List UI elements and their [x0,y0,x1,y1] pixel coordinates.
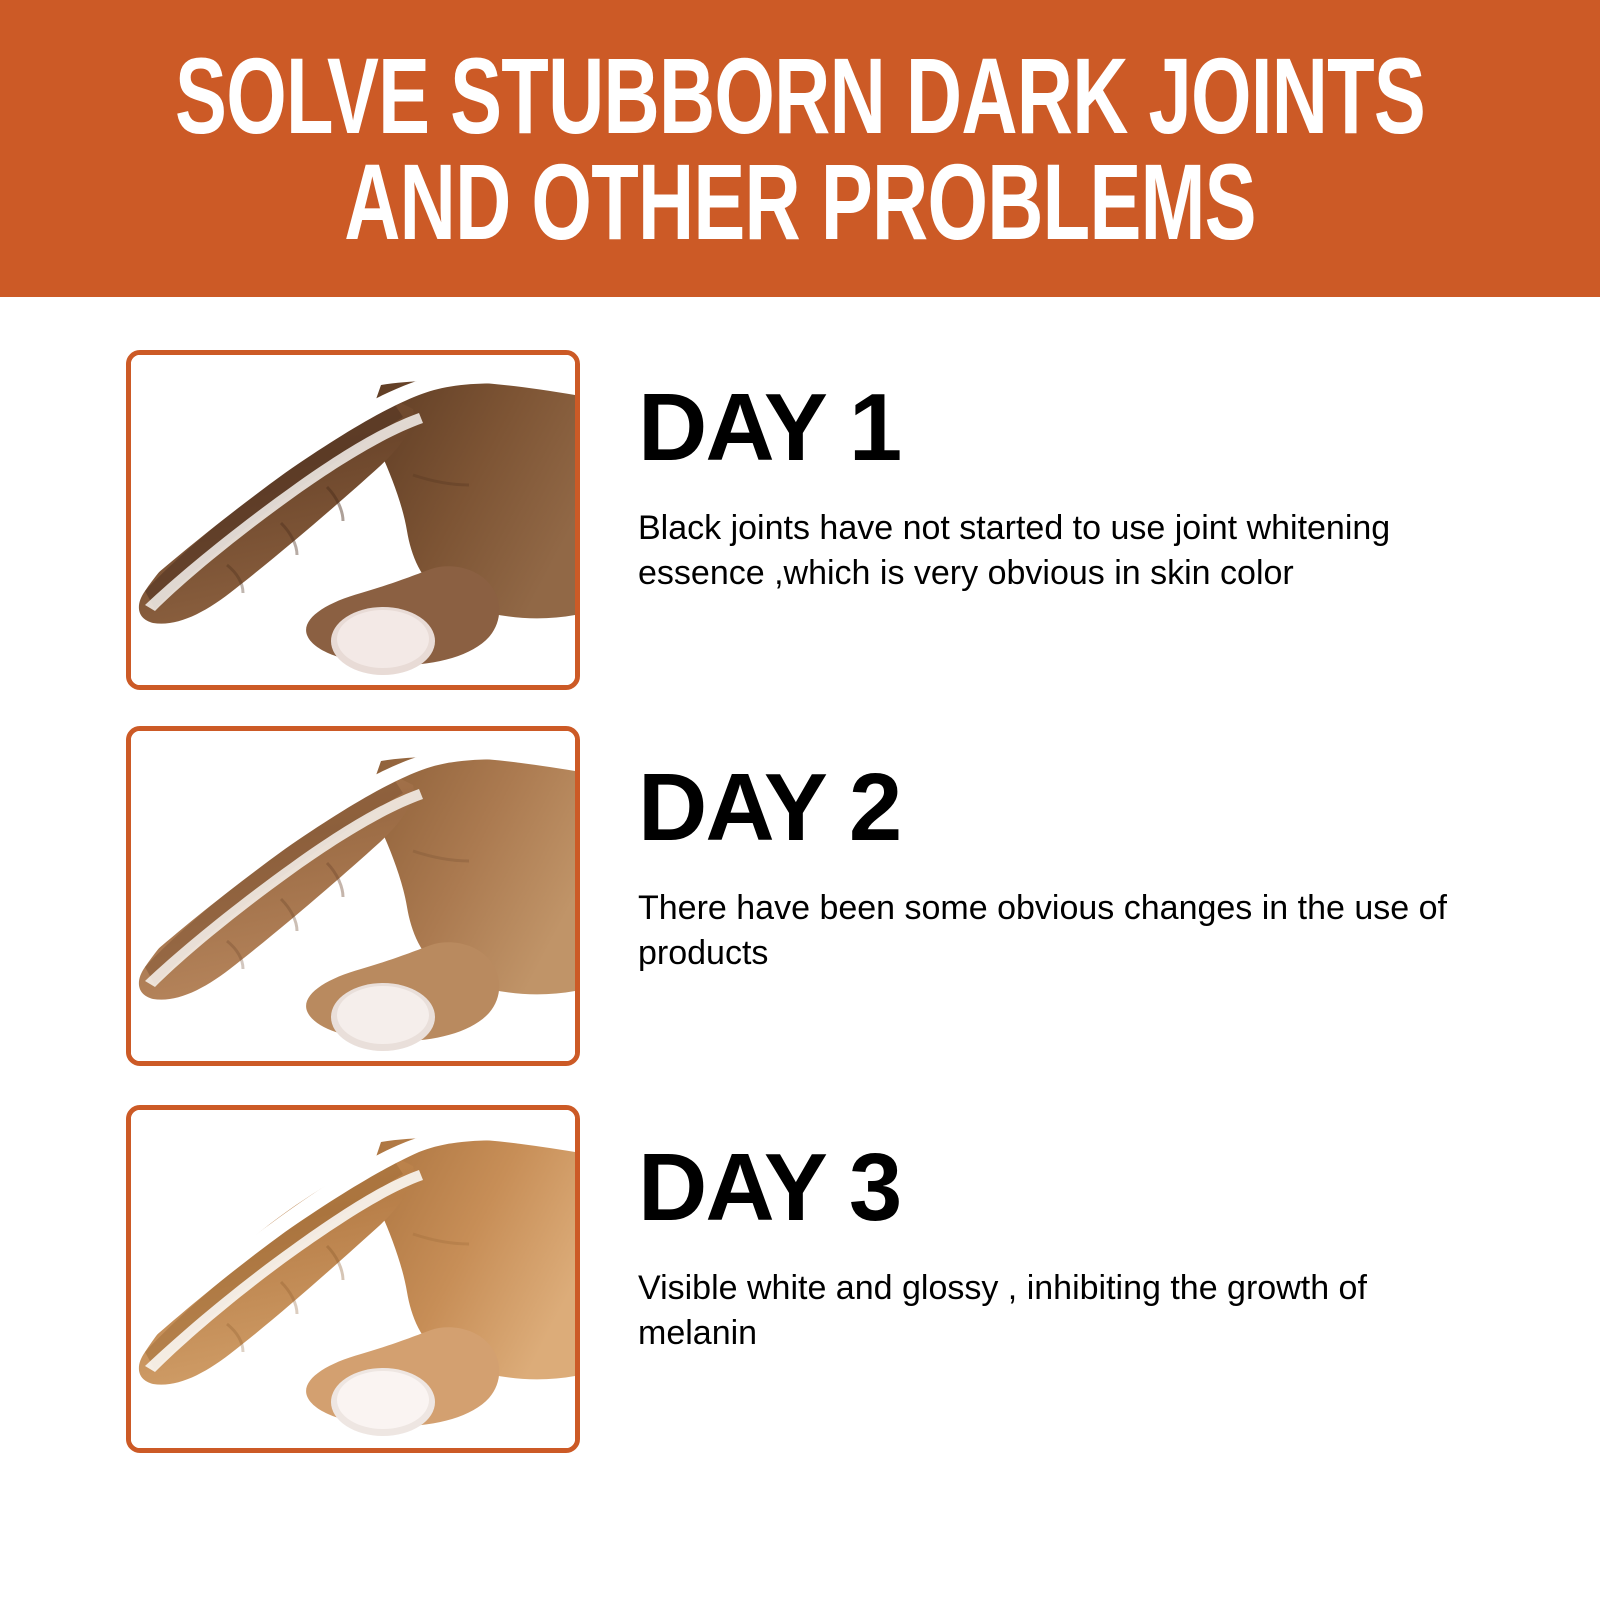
hand-photo-day-3 [131,1110,575,1448]
day-3-title: DAY 3 [638,1140,1518,1236]
header-banner: SOLVE STUBBORN DARK JOINTS AND OTHER PRO… [0,0,1600,297]
day-1-description: Black joints have not started to use joi… [638,506,1498,596]
banner-title-line-2: AND OTHER PROBLEMS [344,150,1256,254]
step-photo-frame-day-1 [126,350,580,690]
step-photo-frame-day-2 [126,726,580,1066]
step-text-day-2: DAY 2 There have been some obvious chang… [638,760,1518,976]
hand-photo-day-2 [131,731,575,1061]
day-2-title: DAY 2 [638,760,1518,856]
hand-illustration-icon [131,1110,575,1448]
day-1-title: DAY 1 [638,380,1518,476]
day-3-description: Visible white and glossy , inhibiting th… [638,1266,1478,1356]
hand-photo-day-1 [131,355,575,685]
step-photo-frame-day-3 [126,1105,580,1453]
hand-illustration-icon [131,355,575,685]
step-text-day-3: DAY 3 Visible white and glossy , inhibit… [638,1140,1518,1356]
banner-title-line-1: SOLVE STUBBORN DARK JOINTS [175,44,1425,148]
hand-illustration-icon [131,731,575,1061]
promo-infographic: SOLVE STUBBORN DARK JOINTS AND OTHER PRO… [0,0,1600,1600]
step-text-day-1: DAY 1 Black joints have not started to u… [638,380,1518,596]
day-2-description: There have been some obvious changes in … [638,886,1478,976]
